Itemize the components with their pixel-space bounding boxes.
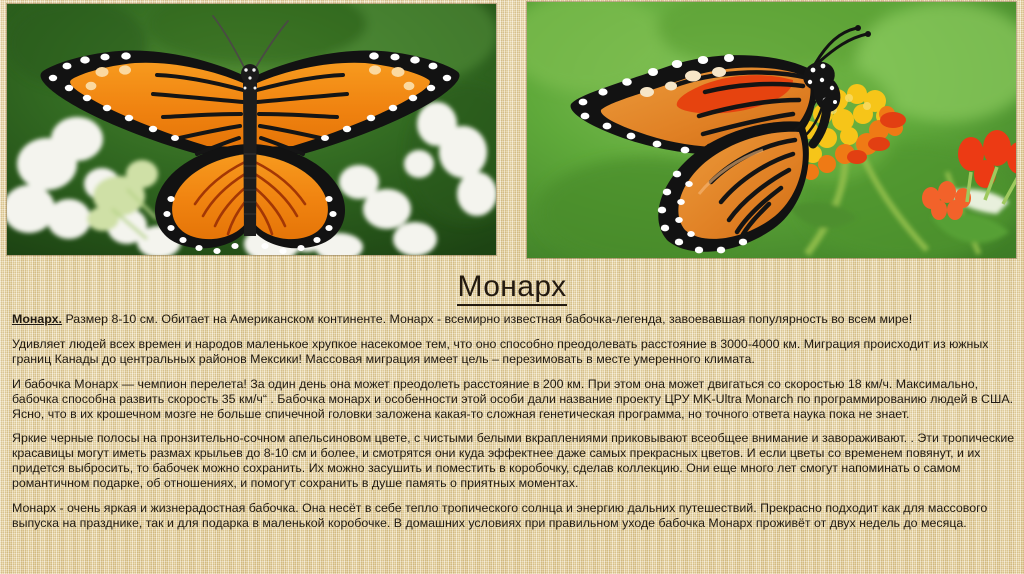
page-title: Монарх — [0, 270, 1024, 304]
paragraph-champion: И бабочка Монарх — чемпион перелета! За … — [12, 377, 1016, 422]
body-copy: Монарх. Размер 8-10 см. Обитает на Амери… — [12, 312, 1016, 531]
photo-monarch-wings-open[interactable] — [7, 4, 496, 255]
paragraph-intro: Монарх. Размер 8-10 см. Обитает на Амери… — [12, 312, 1016, 327]
paragraph-migration: Удивляет людей всех времен и народов мал… — [12, 337, 1016, 367]
monarch-wings-open-illustration — [7, 4, 496, 255]
paragraph-gift: Монарх - очень яркая и жизнерадостная ба… — [12, 501, 1016, 531]
lead-term: Монарх. — [12, 312, 62, 326]
paragraph-intro-text: Размер 8-10 см. Обитает на Американском … — [62, 312, 912, 326]
slide-root: Монарх Монарх. Размер 8-10 см. Обитает н… — [0, 0, 1024, 574]
page-title-text: Монарх — [457, 270, 566, 306]
paragraph-appearance: Яркие черные полосы на пронзительно-сочн… — [12, 431, 1016, 491]
photo-monarch-side-view[interactable] — [527, 2, 1016, 258]
monarch-side-view-illustration — [527, 2, 1016, 258]
photo-row — [0, 0, 1024, 262]
